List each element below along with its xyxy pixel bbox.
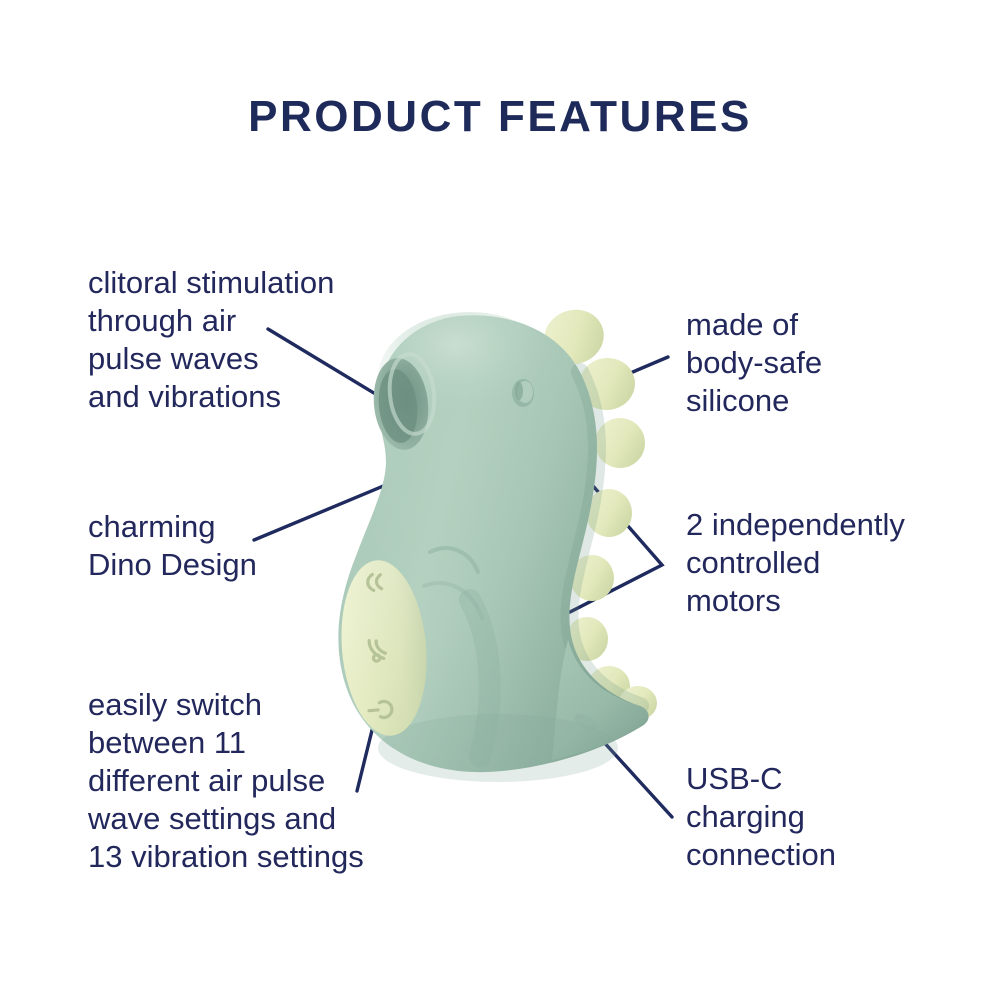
eye [512, 379, 534, 407]
feature-label-silicone: made of body-safe silicone [686, 306, 976, 420]
feature-label-air-pulse: clitoral stimulation through air pulse w… [88, 264, 408, 416]
product-features-infographic: PRODUCT FEATURES [0, 0, 1000, 1000]
feature-label-usbc: USB-C charging connection [686, 760, 976, 874]
feature-label-dino-design: charming Dino Design [88, 508, 408, 584]
feature-label-settings: easily switch between 11 different air p… [88, 686, 428, 876]
feature-label-motors: 2 independently controlled motors [686, 506, 986, 620]
